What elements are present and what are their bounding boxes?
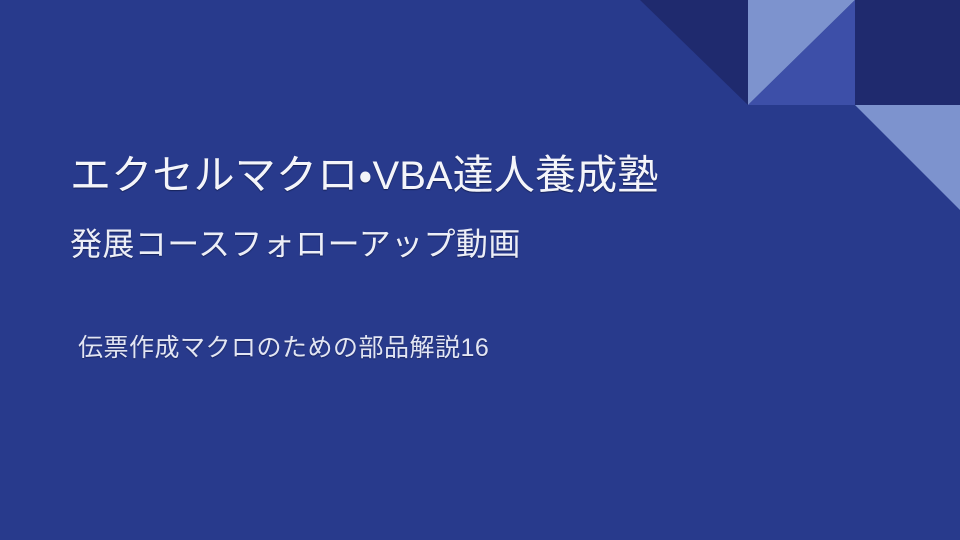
- title-slide: エクセルマクロ・VBA達人養成塾 発展コースフォローアップ動画 伝票作成マクロの…: [0, 0, 960, 540]
- slide-detail-number: 16: [461, 334, 490, 362]
- slide-title-latin: VBA: [373, 154, 453, 198]
- slide-title-suffix: 達人養成塾: [453, 152, 659, 198]
- slide-title-prefix: エクセルマクロ・: [70, 152, 373, 198]
- slide-text-block: エクセルマクロ・VBA達人養成塾 発展コースフォローアップ動画 伝票作成マクロの…: [0, 0, 960, 540]
- slide-subtitle: 発展コースフォローアップ動画: [70, 226, 521, 263]
- slide-detail-line: 伝票作成マクロのための部品解説16: [78, 334, 489, 364]
- slide-title-main: エクセルマクロ・VBA達人養成塾: [70, 152, 659, 199]
- slide-detail-text: 伝票作成マクロのための部品解説: [78, 335, 461, 362]
